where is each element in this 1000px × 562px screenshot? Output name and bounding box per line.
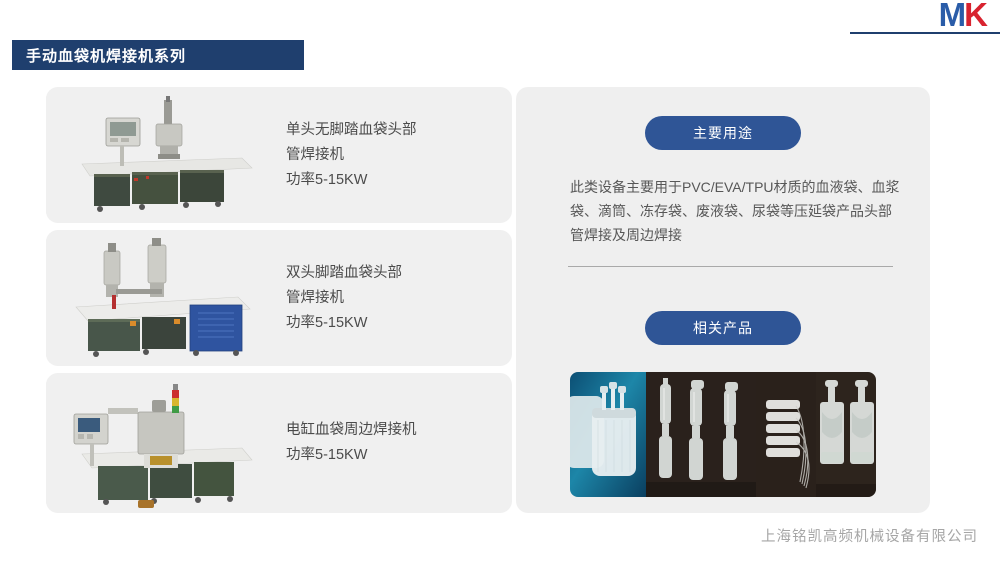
badge-related-products[interactable]: 相关产品 [645, 311, 801, 345]
logo-letter-m: M [939, 0, 965, 33]
page-title-bar: 手动血袋机焊接机系列 [12, 40, 304, 70]
product-photo-single-head [46, 90, 278, 220]
product-line: 管焊接机 [286, 143, 512, 168]
product-card[interactable]: 双头脚踏血袋头部 管焊接机 功率5-15KW [46, 230, 512, 366]
page-title: 手动血袋机焊接机系列 [12, 45, 186, 66]
product-card[interactable]: 单头无脚踏血袋头部 管焊接机 功率5-15KW [46, 87, 512, 223]
product-description: 单头无脚踏血袋头部 管焊接机 功率5-15KW [278, 118, 512, 193]
product-line: 管焊接机 [286, 286, 512, 311]
main-use-description: 此类设备主要用于PVC/EVA/TPU材质的血液袋、血浆袋、滴筒、冻存袋、废液袋… [570, 175, 900, 247]
product-line: 单头无脚踏血袋头部 [286, 118, 512, 143]
badge-main-use[interactable]: 主要用途 [645, 116, 801, 150]
product-line: 双头脚踏血袋头部 [286, 261, 512, 286]
badge-main-use-label: 主要用途 [693, 123, 753, 143]
gallery-image-pouch [816, 372, 876, 497]
product-photo-electric-cylinder [46, 378, 278, 508]
product-line: 电缸血袋周边焊接机 [286, 418, 512, 443]
product-list: 单头无脚踏血袋头部 管焊接机 功率5-15KW [46, 87, 512, 513]
gallery-image-connector-strip [756, 372, 816, 497]
product-line: 功率5-15KW [286, 443, 512, 468]
badge-related-products-label: 相关产品 [693, 318, 753, 338]
product-description: 双头脚踏血袋头部 管焊接机 功率5-15KW [278, 261, 512, 336]
gallery-image-drip-chamber [646, 372, 756, 497]
product-description: 电缸血袋周边焊接机 功率5-15KW [278, 418, 512, 468]
product-photo-double-head [46, 233, 278, 363]
section-divider [568, 266, 893, 267]
logo-letter-k: K [964, 0, 986, 33]
logo-text: MK [939, 0, 986, 32]
product-line: 功率5-15KW [286, 168, 512, 193]
gallery-image-blood-bag [570, 372, 646, 497]
related-products-gallery[interactable] [570, 372, 876, 497]
footer-company: 上海铭凯高频机械设备有限公司 [761, 525, 978, 546]
product-line: 功率5-15KW [286, 311, 512, 336]
product-card[interactable]: 电缸血袋周边焊接机 功率5-15KW [46, 373, 512, 513]
info-panel: 主要用途 此类设备主要用于PVC/EVA/TPU材质的血液袋、血浆袋、滴筒、冻存… [516, 87, 930, 513]
slide-root: MK 手动血袋机焊接机系列 [0, 0, 1000, 562]
brand-logo: MK [880, 0, 1000, 38]
